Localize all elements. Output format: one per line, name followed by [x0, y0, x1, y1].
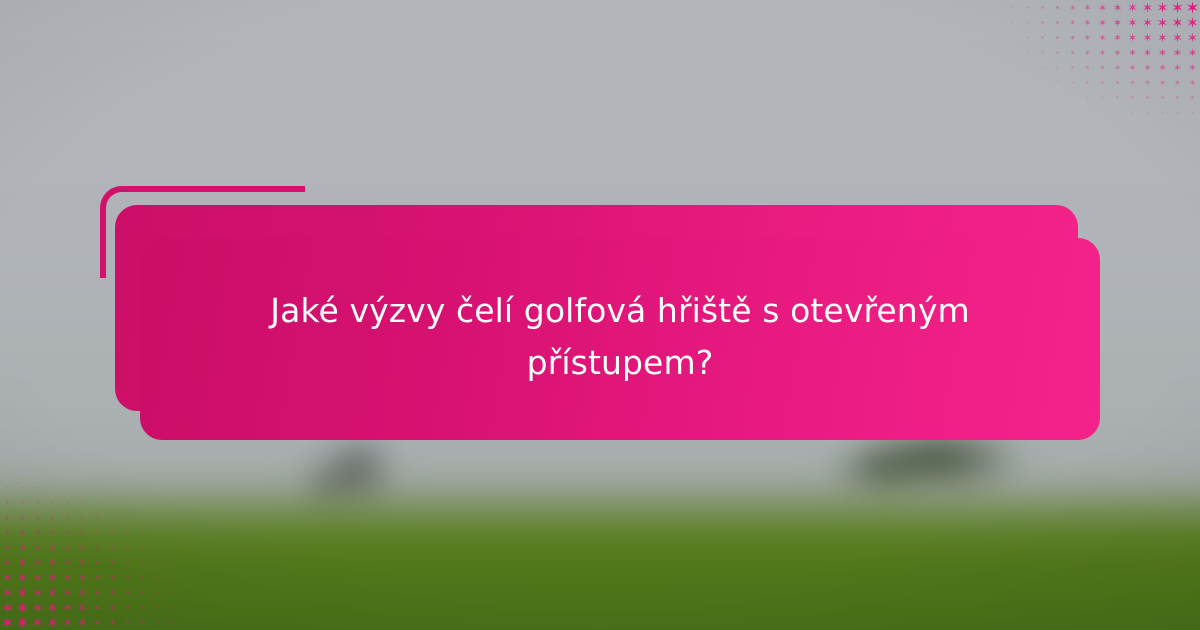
share-card-canvas: Jaké výzvy čelí golfová hřiště s otevřen… [0, 0, 1200, 630]
page-title: Jaké výzvy čelí golfová hřiště s otevřen… [240, 285, 1000, 389]
headline-card: Jaké výzvy čelí golfová hřiště s otevřen… [140, 238, 1100, 440]
